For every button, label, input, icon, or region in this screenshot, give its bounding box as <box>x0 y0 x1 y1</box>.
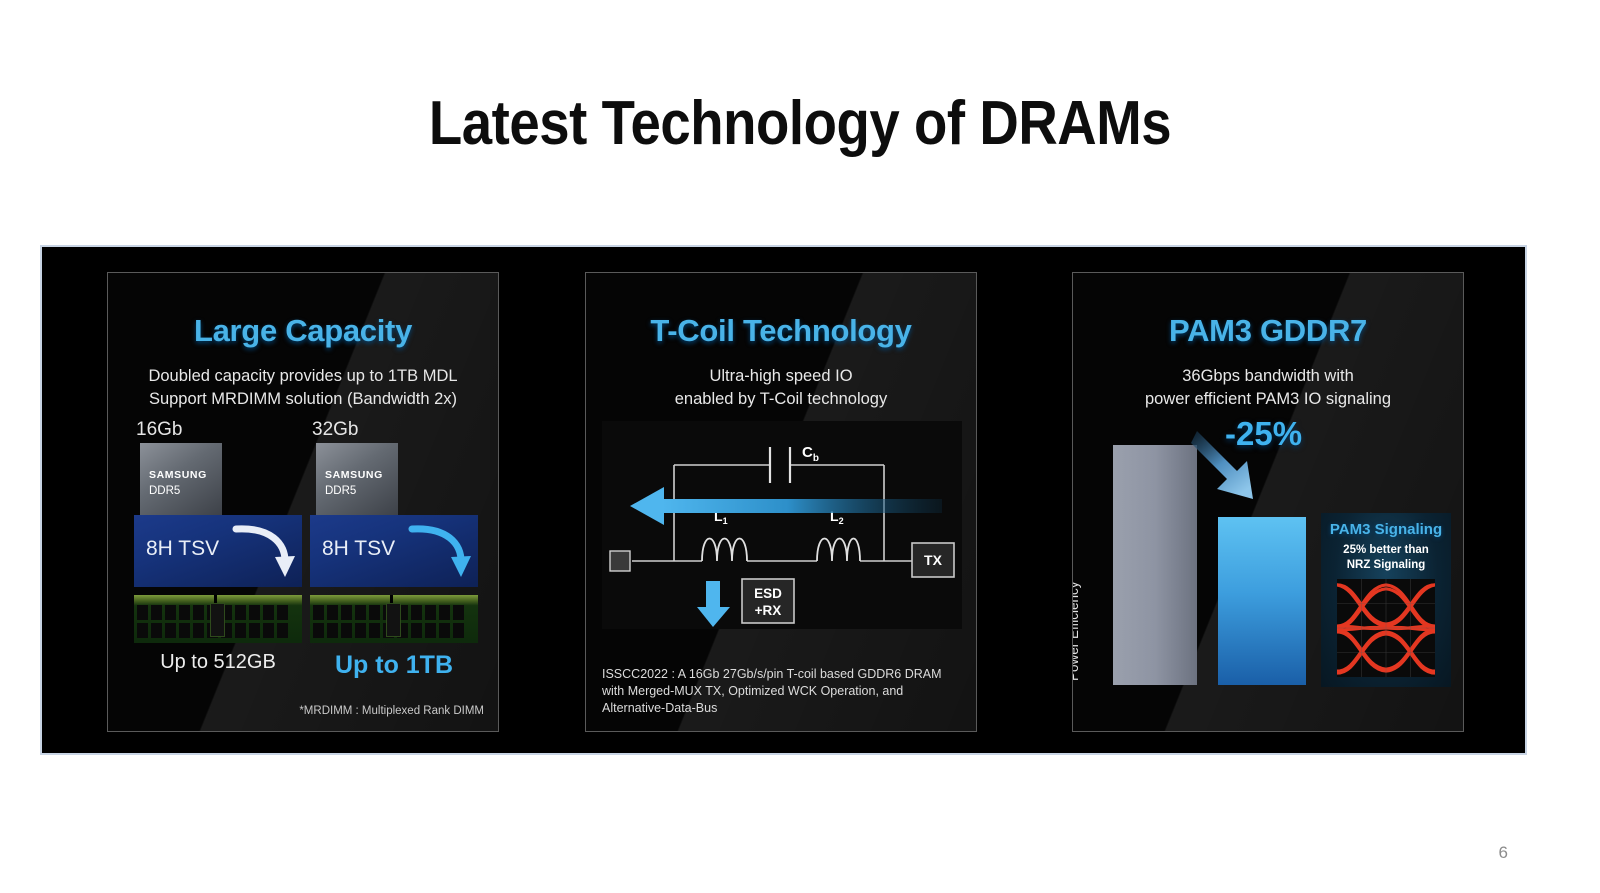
page-title: Latest Technology of DRAMs <box>96 88 1504 159</box>
dimm-notch-left <box>214 595 217 603</box>
pam3-eye-diagram-card: PAM3 Signaling 25% better than NRZ Signa… <box>1321 513 1451 687</box>
panel-3-heading: PAM3 GDDR7 <box>1073 313 1463 349</box>
panel-2-citation: ISSCC2022 : A 16Gb 27Gb/s/pin T-coil bas… <box>602 666 964 717</box>
page-number: 6 <box>1499 843 1508 863</box>
curved-arrow-icon-left <box>230 515 300 587</box>
eye-card-subtitle-line-2: NRZ Signaling <box>1321 558 1451 573</box>
capacitor-label: Cb <box>802 444 819 464</box>
panel-2-heading: T-Coil Technology <box>586 313 976 349</box>
pad-square <box>610 551 630 571</box>
capacity-group-32gb: 32Gb SAMSUNG DDR5 8H TSV <box>310 419 478 521</box>
capacity-result-left: Up to 512GB <box>134 651 302 674</box>
panel-large-capacity: Large Capacity Doubled capacity provides… <box>107 272 499 732</box>
panel-2-subtitle-line-2: enabled by T-Coil technology <box>586 388 976 411</box>
dimm-module-right <box>310 595 478 643</box>
chip-model-right: DDR5 <box>325 485 356 497</box>
panel-3-subtitle-line-1: 36Gbps bandwidth with <box>1073 365 1463 388</box>
panel-3-subtitle: 36Gbps bandwidth with power efficient PA… <box>1073 365 1463 411</box>
panel-pam3-gddr7: PAM3 GDDR7 36Gbps bandwidth with power e… <box>1072 272 1464 732</box>
tcoil-circuit-diagram: Cb L1 L2 <box>602 421 962 629</box>
dram-chip-left: SAMSUNG DDR5 <box>140 443 222 521</box>
tsv-stack-left: 8H TSV <box>134 515 302 587</box>
signal-arrow-left <box>662 499 942 513</box>
bar-pam3-signaling <box>1218 517 1306 685</box>
density-label-left: 16Gb <box>134 419 302 441</box>
eye-card-subtitle: 25% better than NRZ Signaling <box>1321 543 1451 573</box>
eye-card-title: PAM3 Signaling <box>1321 521 1451 538</box>
content-stage: Large Capacity Doubled capacity provides… <box>40 245 1527 755</box>
bar-nrz-signaling <box>1113 445 1197 685</box>
tsv-label-right: 8H TSV <box>322 537 395 561</box>
chart-y-axis-label: Power Efficiency <box>1072 581 1081 681</box>
inductor-l2-coil <box>817 539 860 562</box>
panel-2-subtitle: Ultra-high speed IO enabled by T-Coil te… <box>586 365 976 411</box>
inductor-l1-coil <box>702 539 747 562</box>
dimm-notch-right <box>390 595 393 603</box>
dimm-module-left <box>134 595 302 643</box>
panel-tcoil-technology: T-Coil Technology Ultra-high speed IO en… <box>585 272 977 732</box>
chip-brand-left: SAMSUNG <box>149 469 207 481</box>
panel-1-subtitle-line-1: Doubled capacity provides up to 1TB MDL <box>108 365 498 388</box>
panel-1-footnote: *MRDIMM : Multiplexed Rank DIMM <box>299 705 484 717</box>
dimm-register-chip-left <box>210 603 225 637</box>
eye-card-subtitle-line-1: 25% better than <box>1321 543 1451 558</box>
density-label-right: 32Gb <box>310 419 478 441</box>
tsv-stack-right: 8H TSV <box>310 515 478 587</box>
panel-1-heading: Large Capacity <box>108 313 498 349</box>
panel-1-subtitle-line-2: Support MRDIMM solution (Bandwidth 2x) <box>108 388 498 411</box>
esd-rx-label-line-2: +RX <box>755 603 782 618</box>
curved-arrow-icon-right <box>406 515 476 587</box>
down-right-arrow-icon <box>1191 425 1269 509</box>
dimm-register-chip-right <box>386 603 401 637</box>
circuit-schematic-svg: Cb L1 L2 <box>602 421 962 629</box>
panel-2-subtitle-line-1: Ultra-high speed IO <box>586 365 976 388</box>
esd-rx-label-line-1: ESD <box>754 586 782 601</box>
chip-model-left: DDR5 <box>149 485 180 497</box>
panel-3-subtitle-line-2: power efficient PAM3 IO signaling <box>1073 388 1463 411</box>
dram-chip-right: SAMSUNG DDR5 <box>316 443 398 521</box>
capacity-group-16gb: 16Gb SAMSUNG DDR5 8H TSV <box>134 419 302 521</box>
capacity-result-right: Up to 1TB <box>310 651 478 680</box>
tx-block-label: TX <box>924 552 943 568</box>
eye-diagram-svg <box>1337 579 1435 677</box>
panel-1-subtitle: Doubled capacity provides up to 1TB MDL … <box>108 365 498 411</box>
slide: Latest Technology of DRAMs Large Capacit… <box>0 0 1600 893</box>
power-efficiency-bar-chart: Power Efficiency -25% PAM3 Si <box>1073 413 1464 703</box>
chip-brand-right: SAMSUNG <box>325 469 383 481</box>
tsv-label-left: 8H TSV <box>146 537 219 561</box>
